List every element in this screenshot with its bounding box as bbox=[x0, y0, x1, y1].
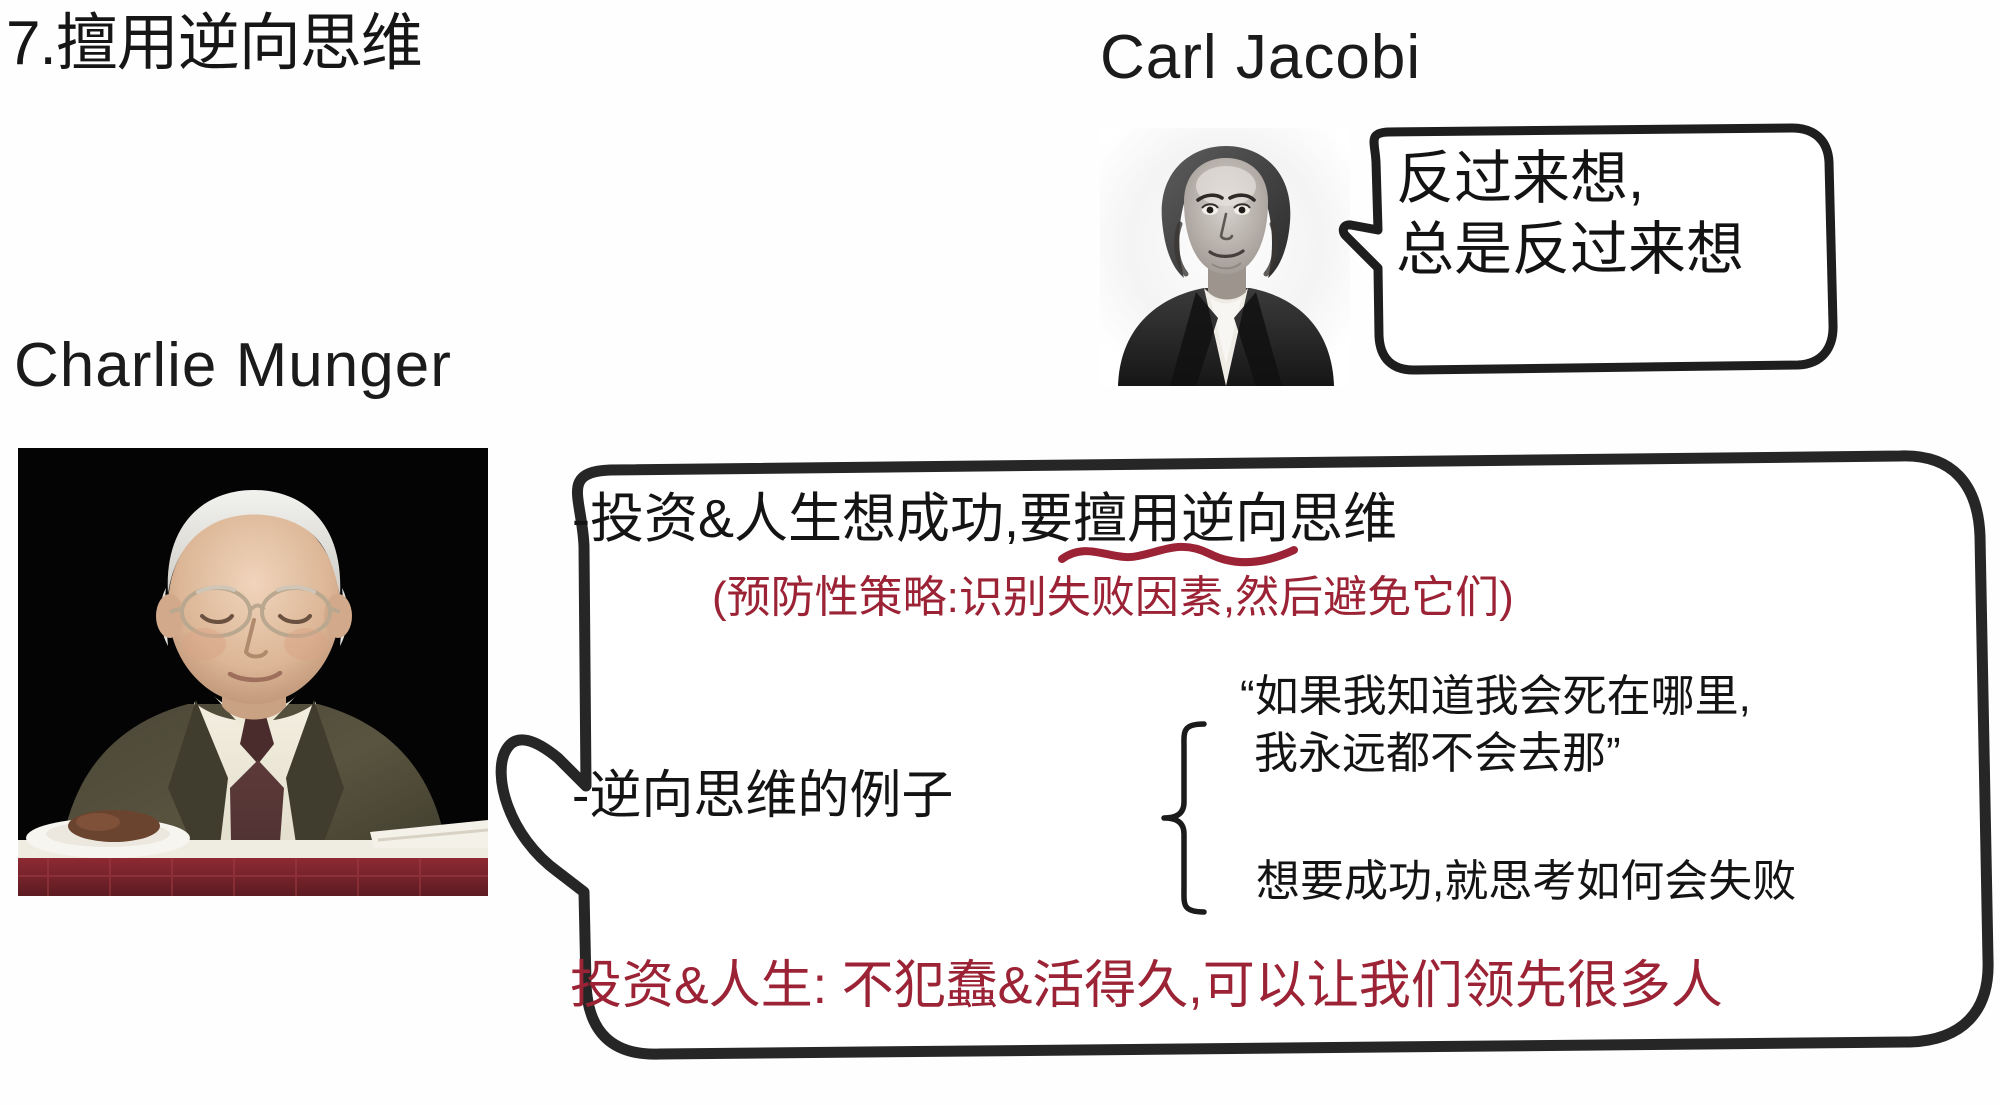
munger-name-label: Charlie Munger bbox=[14, 330, 452, 401]
callout-quote-example: “如果我知道我会死在哪里, 我永远都不会去那” bbox=[1240, 668, 1751, 782]
wavy-underline-icon bbox=[1058, 542, 1298, 568]
jacobi-name-label: Carl Jacobi bbox=[1100, 22, 1421, 93]
callout-strategy-note: (预防性策略:识别失败因素,然后避免它们) bbox=[712, 576, 1514, 620]
page-title: 7.擅用逆向思维 bbox=[6, 10, 422, 78]
callout-conclusion: 投资&人生: 不犯蠢&活得久,可以让我们领先很多人 bbox=[570, 960, 1723, 1012]
speech-bubble-line-1: 反过来想, bbox=[1396, 144, 1816, 215]
slide-canvas: 7.擅用逆向思维 Carl Jacobi bbox=[0, 0, 2000, 1105]
quote-line-2: 我永远都不会去那” bbox=[1240, 725, 1751, 782]
callout-examples-label: -逆向思维的例子 bbox=[572, 770, 953, 822]
main-callout-box: -投资&人生想成功,要擅用逆向思维 (预防性策略:识别失败因素,然后避免它们) … bbox=[500, 440, 2000, 1080]
speech-bubble-line-2: 总是反过来想 bbox=[1396, 215, 1816, 286]
quote-line-1: “如果我知道我会死在哪里, bbox=[1240, 668, 1751, 725]
munger-portrait-image bbox=[18, 448, 488, 896]
curly-brace-icon bbox=[1142, 718, 1216, 918]
jacobi-speech-bubble: 反过来想, 总是反过来想 bbox=[1330, 118, 1850, 388]
callout-failure-example: 想要成功,就思考如何会失败 bbox=[1256, 860, 1796, 904]
callout-main-point: -投资&人生想成功,要擅用逆向思维 bbox=[572, 492, 1397, 546]
speech-bubble-text: 反过来想, 总是反过来想 bbox=[1396, 144, 1816, 286]
jacobi-portrait-image bbox=[1100, 128, 1350, 386]
